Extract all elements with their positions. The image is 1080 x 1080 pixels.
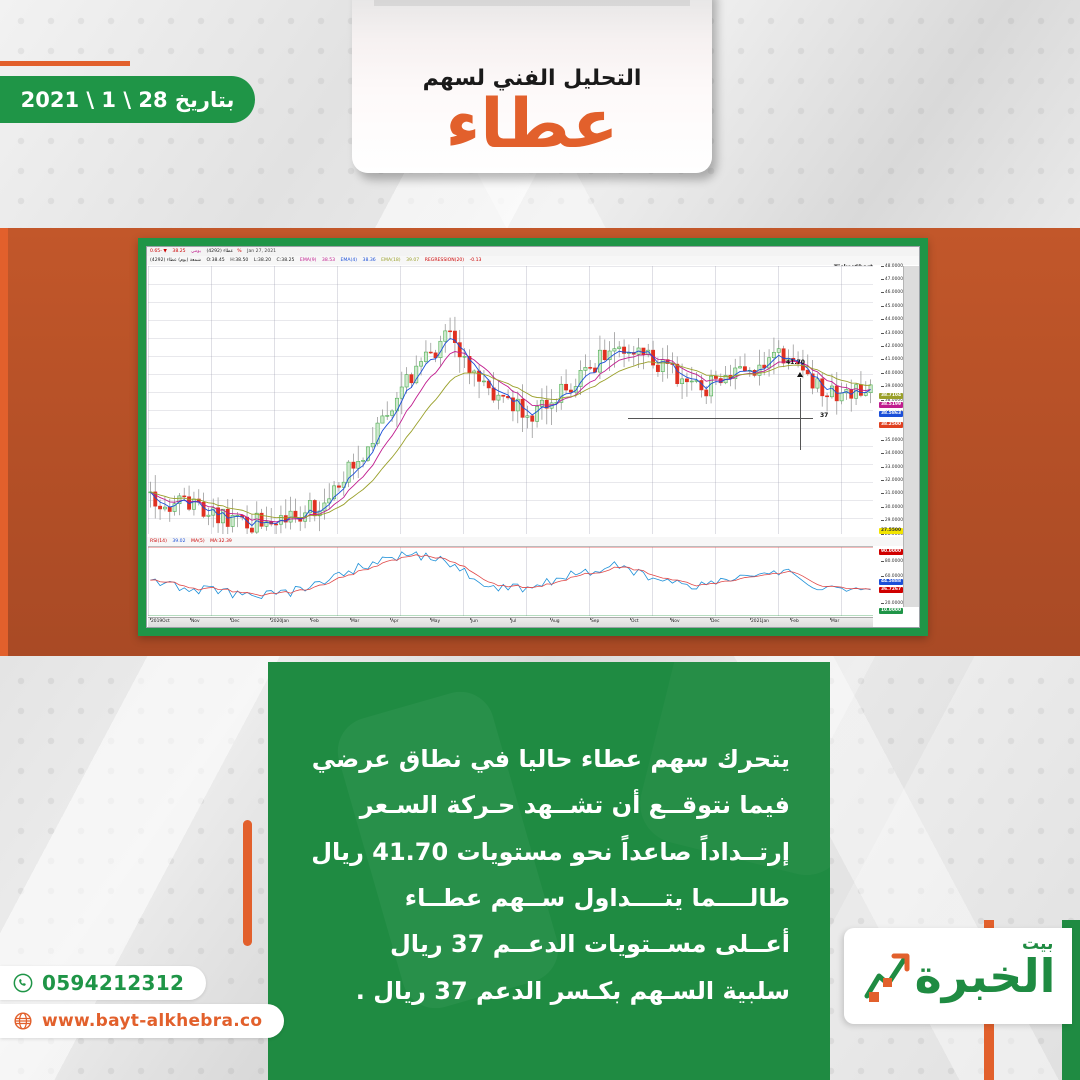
- price-axis-chip: 38.2500: [879, 422, 903, 428]
- time-axis-label: Nov: [671, 619, 680, 624]
- growth-arrow-icon: [863, 948, 915, 1004]
- price-axis-tick: 30.0000: [885, 505, 903, 510]
- target-arrow-shaft: [800, 378, 801, 450]
- price-axis-tick: 45.0000: [885, 304, 903, 309]
- analysis-text-panel: يتحرك سهم عطاء حاليا في نطاق عرضيفيما نت…: [268, 662, 830, 1080]
- time-axis-label: Feb: [791, 619, 799, 624]
- price-axis-tick: 39.0000: [885, 384, 903, 389]
- title-stock-name: عطاء: [446, 92, 619, 157]
- time-axis-label: Jul: [511, 619, 516, 624]
- target-price-label: 41.70: [786, 359, 805, 366]
- rsi-axis-chip: 10.0000: [879, 608, 903, 614]
- chart-series-name: شمعة (يوم) عطاء (4292): [150, 258, 201, 263]
- price-axis-tick: 41.0000: [885, 357, 903, 362]
- brand-logo-text: بيت الخبرة: [915, 953, 1056, 999]
- panel-left-accent-bar: [243, 820, 252, 946]
- rsi-value: 39.02: [172, 539, 185, 544]
- price-axis-tick: 46.0000: [885, 290, 903, 295]
- legend-ema9-label: EMA(9): [300, 258, 317, 263]
- time-axis-label: Feb: [311, 619, 319, 624]
- time-axis-label: Nov: [191, 619, 200, 624]
- analysis-line-2: فيما نتوقــع أن تشــهد حـركة السـعر: [296, 782, 790, 828]
- time-axis-label: Dec: [231, 619, 240, 624]
- price-axis-chip: 38.5863: [879, 411, 903, 417]
- brand-logo-main-text: الخبرة: [915, 949, 1056, 1003]
- analysis-line-6: سلبية السـهم بكـسر الدعم 37 ريال .: [296, 968, 790, 1014]
- chart-band-left-accent: [0, 228, 8, 656]
- website-url: www.bayt-alkhebra.co: [42, 1011, 262, 1031]
- rsi-axis-chip: 90.0000: [879, 549, 903, 555]
- brand-logo-small-text: بيت: [1022, 936, 1053, 953]
- price-axis-tick: 42.0000: [885, 344, 903, 349]
- time-axis-label: Mar: [351, 619, 359, 624]
- price-axis-tick: 29.0000: [885, 518, 903, 523]
- chart-period: يومي: [191, 249, 201, 254]
- rsi-line-svg: [148, 547, 873, 616]
- legend-regression-value: -0.13: [470, 258, 482, 263]
- analysis-line-3: إرتــداداً صاعداً نحو مستويات 41.70 ريال: [296, 829, 790, 875]
- rsi-header-row: RSI(14) 39.02 MA(5) MA:32.39: [147, 537, 919, 546]
- rsi-axis-tick: 80.0000: [885, 559, 903, 564]
- time-axis-label: Jun: [471, 619, 478, 624]
- price-axis-tick: 44.0000: [885, 317, 903, 322]
- rsi-label: RSI(14): [150, 539, 167, 544]
- chart-close: C:38.25: [277, 258, 295, 263]
- time-axis-label: Apr: [391, 619, 399, 624]
- chart-high: H:38.50: [230, 258, 248, 263]
- legend-ema4-label: EMA(4): [341, 258, 358, 263]
- support-line-37: [628, 418, 813, 419]
- time-axis-label: 2020Jan: [271, 619, 289, 624]
- rsi-plot-area[interactable]: [148, 546, 873, 616]
- brand-logo-card: بيت الخبرة: [844, 928, 1072, 1024]
- chart-header-row-1: عطاء (4292) يومي 38.25 ▼ -0.65% Jan 27, …: [147, 247, 919, 256]
- rsi-ma-value: MA:32.39: [210, 539, 232, 544]
- chart-frame: عطاء (4292) يومي 38.25 ▼ -0.65% Jan 27, …: [138, 238, 928, 636]
- chart-date: Jan 27, 2021: [247, 249, 276, 254]
- date-badge: بتاريخ 28 \ 1 \ 2021: [0, 76, 255, 123]
- analysis-text-body: يتحرك سهم عطاء حاليا في نطاق عرضيفيما نت…: [268, 662, 830, 1014]
- chart-low: L:38.20: [254, 258, 271, 263]
- legend-ema4-value: 38.36: [363, 258, 376, 263]
- price-axis-tick: 34.0000: [885, 451, 903, 456]
- rsi-axis: 90.000080.000060.000020.000090.000044.58…: [873, 546, 903, 616]
- price-axis-tick: 47.0000: [885, 277, 903, 282]
- price-axis: 48.000047.000046.000045.000044.000043.00…: [873, 266, 903, 534]
- legend-regression-label: REGRESSION(20): [425, 258, 464, 263]
- time-axis-label: Oct: [631, 619, 639, 624]
- chart-scrollbar[interactable]: [903, 266, 919, 607]
- chart-trend-arrow-icon: ▼: [163, 249, 167, 254]
- chart-header-row-2: شمعة (يوم) عطاء (4292) O:38.45 H:38.50 L…: [147, 256, 919, 265]
- chart-symbol: عطاء (4292): [206, 249, 233, 254]
- time-axis: 2019OctNovDec2020JanFebMarAprMayJunJulAu…: [148, 617, 873, 627]
- rsi-axis-chip: 44.5888: [879, 579, 903, 585]
- price-axis-tick: 32.0000: [885, 478, 903, 483]
- contact-phone-pill[interactable]: 0594212312: [0, 966, 206, 1000]
- rsi-axis-chip: 36.7267: [879, 587, 903, 593]
- chart-canvas[interactable]: عطاء (4292) يومي 38.25 ▼ -0.65% Jan 27, …: [146, 246, 920, 628]
- contact-website-pill[interactable]: www.bayt-alkhebra.co: [0, 1004, 284, 1038]
- rsi-axis-tick: 20.0000: [885, 601, 903, 606]
- legend-ema18-label: EMA(18): [381, 258, 400, 263]
- globe-icon: [13, 1011, 33, 1031]
- time-axis-label: Dec: [711, 619, 720, 624]
- analysis-line-4: طالــــما يتــــداول ســهم عطــاء: [296, 875, 790, 921]
- price-axis-chip: 38.7104: [879, 393, 903, 399]
- phone-number: 0594212312: [42, 971, 184, 995]
- legend-ema9-value: 38.53: [322, 258, 335, 263]
- price-axis-tick: 35.0000: [885, 438, 903, 443]
- price-axis-chip: 38.5199: [879, 402, 903, 408]
- support-line-label: 37: [820, 412, 828, 419]
- time-axis-label: Aug: [551, 619, 560, 624]
- time-axis-label: 2021Jan: [751, 619, 769, 624]
- title-card: التحليل الفني لسهم عطاء: [352, 0, 712, 173]
- time-axis-label: May: [431, 619, 440, 624]
- target-arrow-head-icon: [797, 372, 803, 377]
- price-axis-tick: 43.0000: [885, 331, 903, 336]
- price-axis-tick: 31.0000: [885, 491, 903, 496]
- rsi-ma-label: MA(5): [191, 539, 205, 544]
- price-axis-bottom-chip: 27.5500: [879, 528, 903, 534]
- date-accent-rule: [0, 61, 130, 66]
- price-candlestick-svg: [148, 266, 873, 534]
- analysis-line-1: يتحرك سهم عطاء حاليا في نطاق عرضي: [296, 736, 790, 782]
- price-axis-tick: 33.0000: [885, 465, 903, 470]
- price-axis-tick: 40.0000: [885, 371, 903, 376]
- time-axis-label: Sep: [591, 619, 599, 624]
- price-axis-tick: 48.0000: [885, 264, 903, 269]
- legend-ema18-value: 39.07: [406, 258, 419, 263]
- analysis-line-5: أعــلى مســتويات الدعــم 37 ريال: [296, 921, 790, 967]
- price-plot-area[interactable]: 37 41.70: [148, 266, 873, 534]
- chart-last-price: 38.25: [172, 249, 185, 254]
- chart-open: O:38.45: [206, 258, 224, 263]
- time-axis-label: Mar: [831, 619, 839, 624]
- whatsapp-icon: [13, 973, 33, 993]
- time-axis-label: 2019Oct: [151, 619, 170, 624]
